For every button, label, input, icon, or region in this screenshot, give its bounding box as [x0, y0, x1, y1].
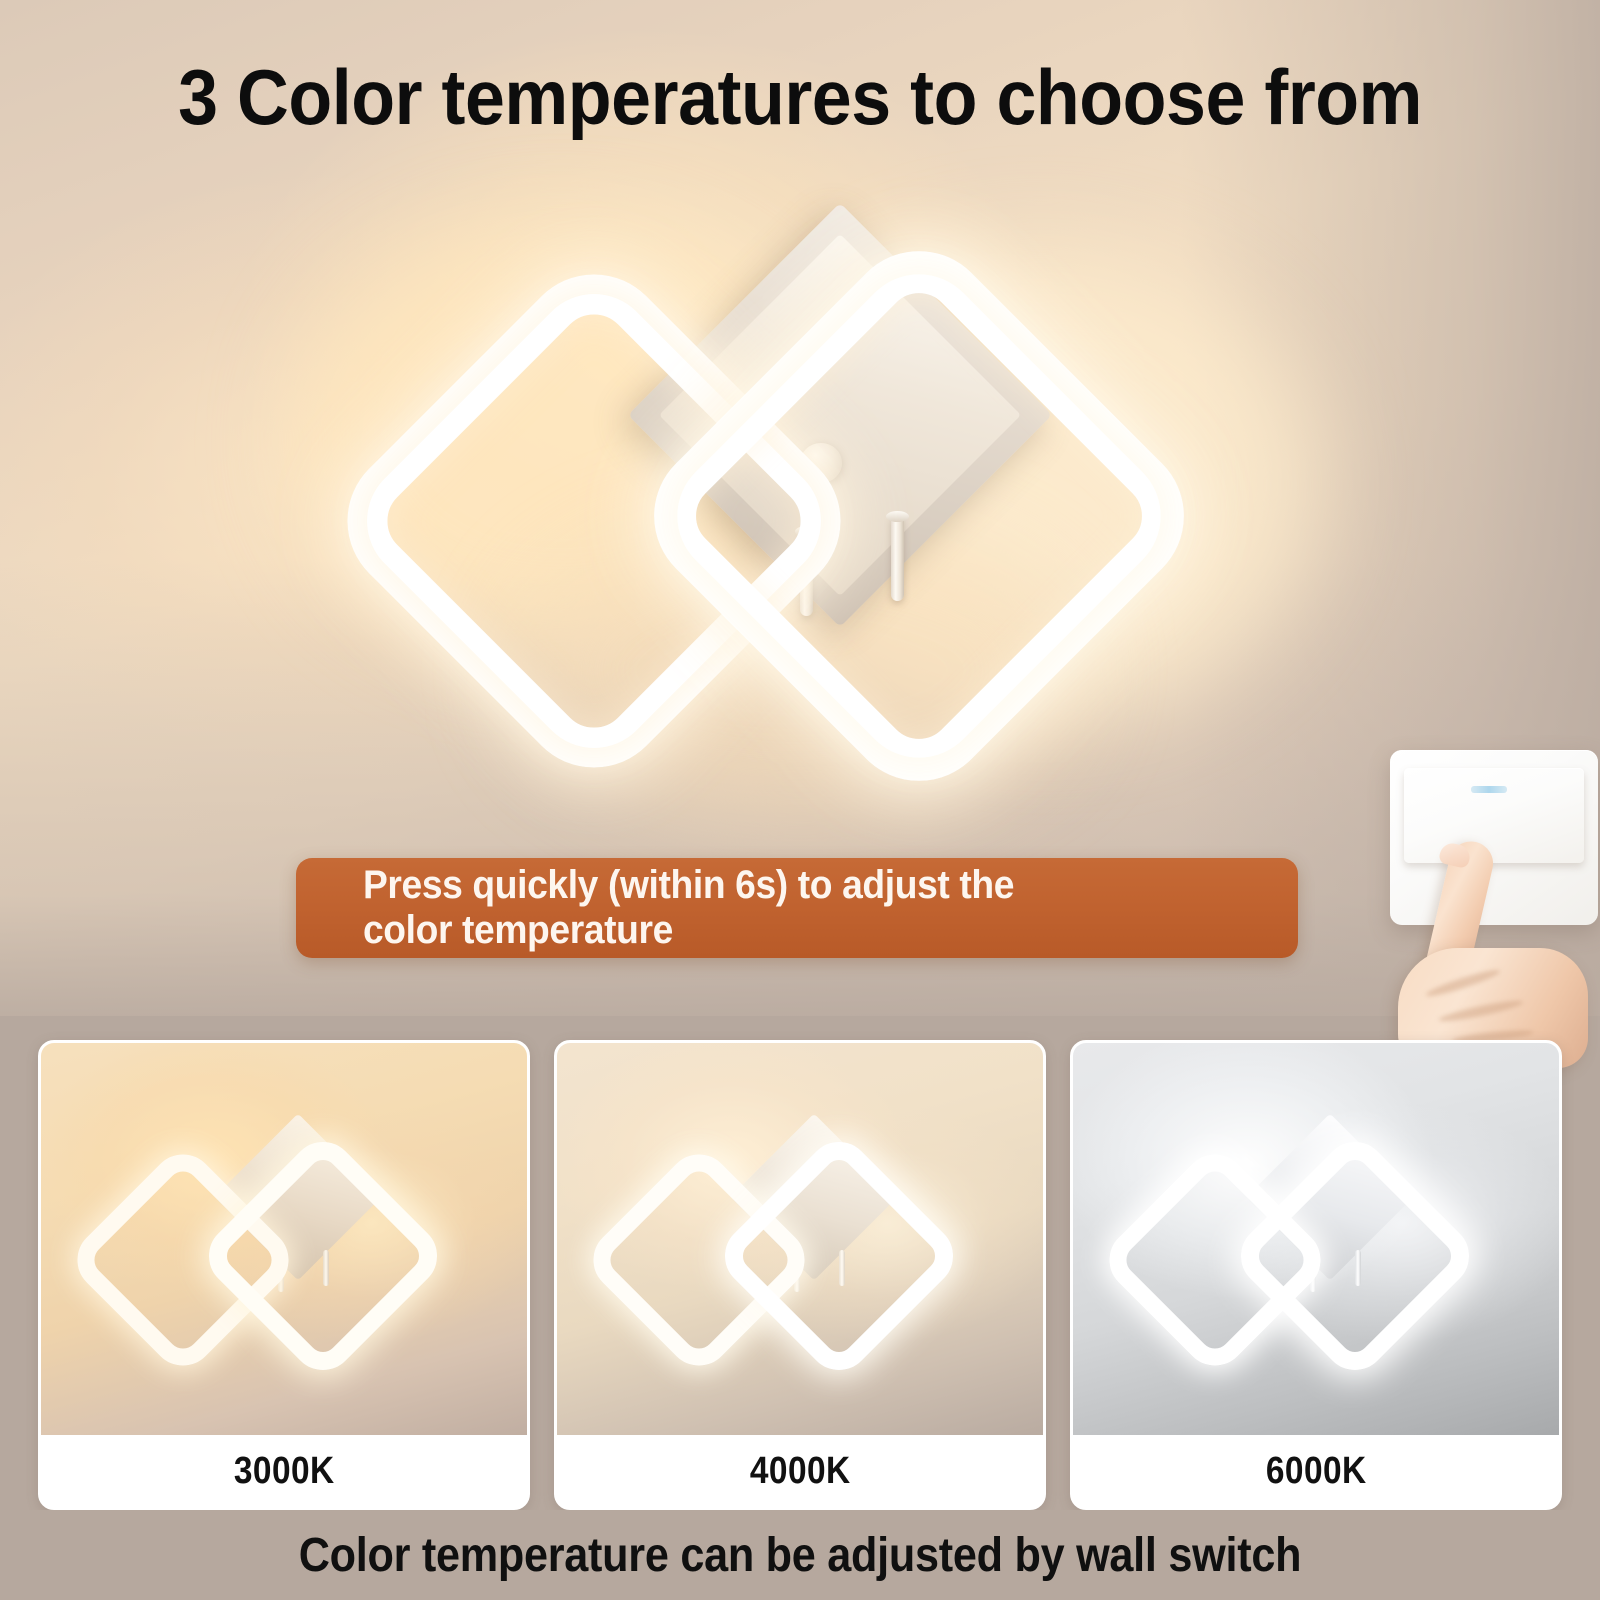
mini-ring-right: [196, 1129, 451, 1384]
mini-ring-right: [1228, 1129, 1483, 1384]
card-label-text-6000k: 6000K: [1266, 1450, 1367, 1493]
bottom-caption-text: Color temperature can be adjusted by wal…: [299, 1528, 1302, 1583]
hero-ceiling-scene: Press quickly (within 6s) to adjust the …: [0, 0, 1600, 1016]
mini-lamp-3000k: [91, 1128, 483, 1378]
mini-ring-right: [712, 1129, 967, 1384]
instruction-banner: Press quickly (within 6s) to adjust the …: [296, 858, 1298, 958]
color-temperature-card-6000k[interactable]: 6000K: [1070, 1040, 1562, 1510]
page-title: 3 Color temperatures to choose from: [0, 58, 1600, 136]
color-temperature-card-4000k[interactable]: 4000K: [554, 1040, 1046, 1510]
knuckle-crease-1: [1424, 966, 1501, 1000]
page-title-text: 3 Color temperatures to choose from: [178, 58, 1422, 136]
mini-lamp-6000k: [1123, 1128, 1515, 1378]
card-label-text-4000k: 4000K: [750, 1450, 851, 1493]
card-image-4000k: [557, 1043, 1043, 1441]
card-label-4000k: 4000K: [557, 1435, 1043, 1507]
card-image-6000k: [1073, 1043, 1559, 1441]
color-temperature-card-3000k[interactable]: 3000K: [38, 1040, 530, 1510]
instruction-banner-text: Press quickly (within 6s) to adjust the …: [296, 863, 1014, 953]
wall-switch-led-indicator: [1471, 786, 1507, 793]
infographic-stage: Press quickly (within 6s) to adjust the …: [0, 0, 1600, 1600]
ceiling-lamp-main: [360, 215, 1320, 795]
card-label-6000k: 6000K: [1073, 1435, 1559, 1507]
mini-lamp-4000k: [607, 1128, 999, 1378]
card-image-3000k: [41, 1043, 527, 1441]
bottom-caption-bar: Color temperature can be adjusted by wal…: [0, 1510, 1600, 1600]
card-label-text-3000k: 3000K: [234, 1450, 335, 1493]
card-label-3000k: 3000K: [41, 1435, 527, 1507]
